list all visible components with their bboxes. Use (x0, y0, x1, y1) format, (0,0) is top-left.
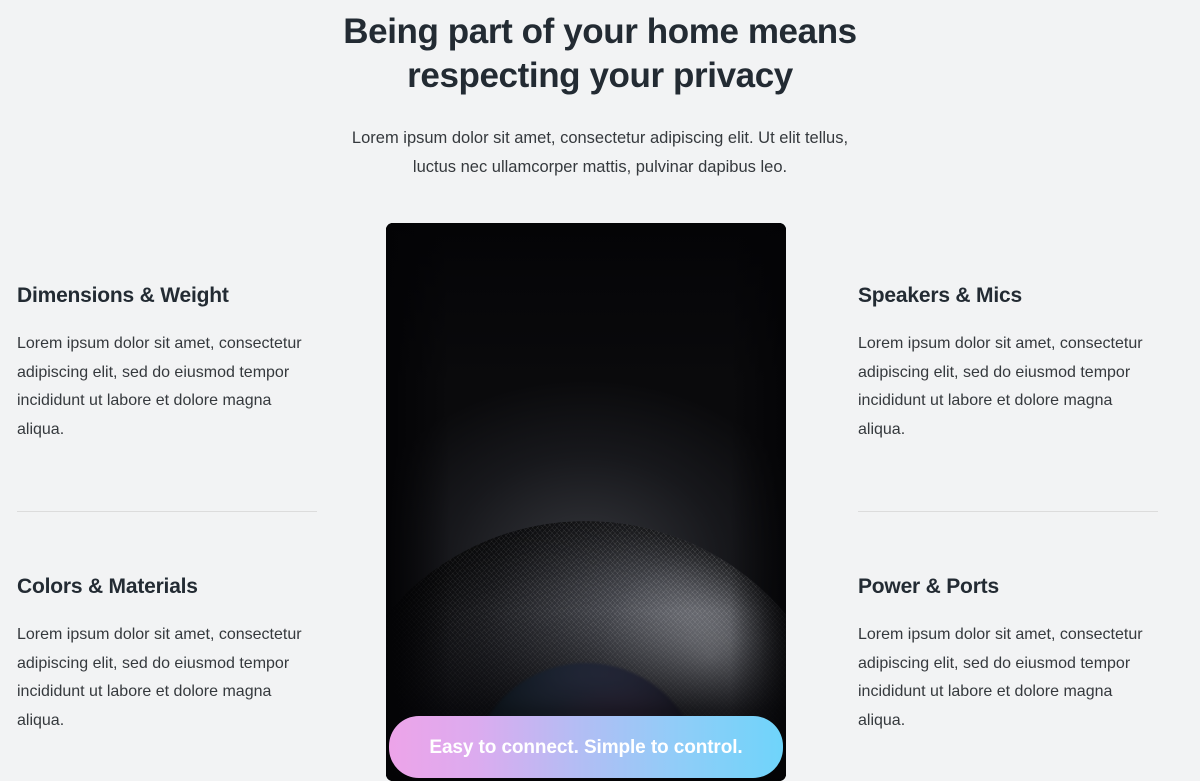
feature-body: Lorem ipsum dolor sit amet, consectetur … (858, 621, 1158, 735)
cta-banner-label: Easy to connect. Simple to control. (429, 738, 742, 757)
feature-dimensions-weight: Dimensions & Weight Lorem ipsum dolor si… (17, 282, 317, 444)
page-title: Being part of your home means respecting… (320, 10, 880, 98)
smart-speaker-photo (386, 223, 786, 781)
cta-banner[interactable]: Easy to connect. Simple to control. (389, 716, 783, 778)
feature-column-left: Dimensions & Weight Lorem ipsum dolor si… (17, 282, 317, 735)
feature-title: Dimensions & Weight (17, 282, 317, 310)
section-header: Being part of your home means respecting… (0, 0, 1200, 182)
feature-body: Lorem ipsum dolor sit amet, consectetur … (858, 330, 1158, 444)
photo-side-fade (386, 223, 786, 781)
feature-section: Being part of your home means respecting… (0, 0, 1200, 781)
feature-divider (17, 511, 317, 512)
feature-divider (858, 511, 1158, 512)
feature-power-ports: Power & Ports Lorem ipsum dolor sit amet… (858, 573, 1158, 735)
product-media-card (386, 223, 786, 781)
feature-title: Colors & Materials (17, 573, 317, 601)
feature-body: Lorem ipsum dolor sit amet, consectetur … (17, 621, 317, 735)
feature-colors-materials: Colors & Materials Lorem ipsum dolor sit… (17, 573, 317, 735)
feature-speakers-mics: Speakers & Mics Lorem ipsum dolor sit am… (858, 282, 1158, 444)
feature-title: Speakers & Mics (858, 282, 1158, 310)
feature-title: Power & Ports (858, 573, 1158, 601)
feature-column-right: Speakers & Mics Lorem ipsum dolor sit am… (858, 282, 1158, 735)
section-subtitle: Lorem ipsum dolor sit amet, consectetur … (330, 124, 870, 182)
feature-body: Lorem ipsum dolor sit amet, consectetur … (17, 330, 317, 444)
